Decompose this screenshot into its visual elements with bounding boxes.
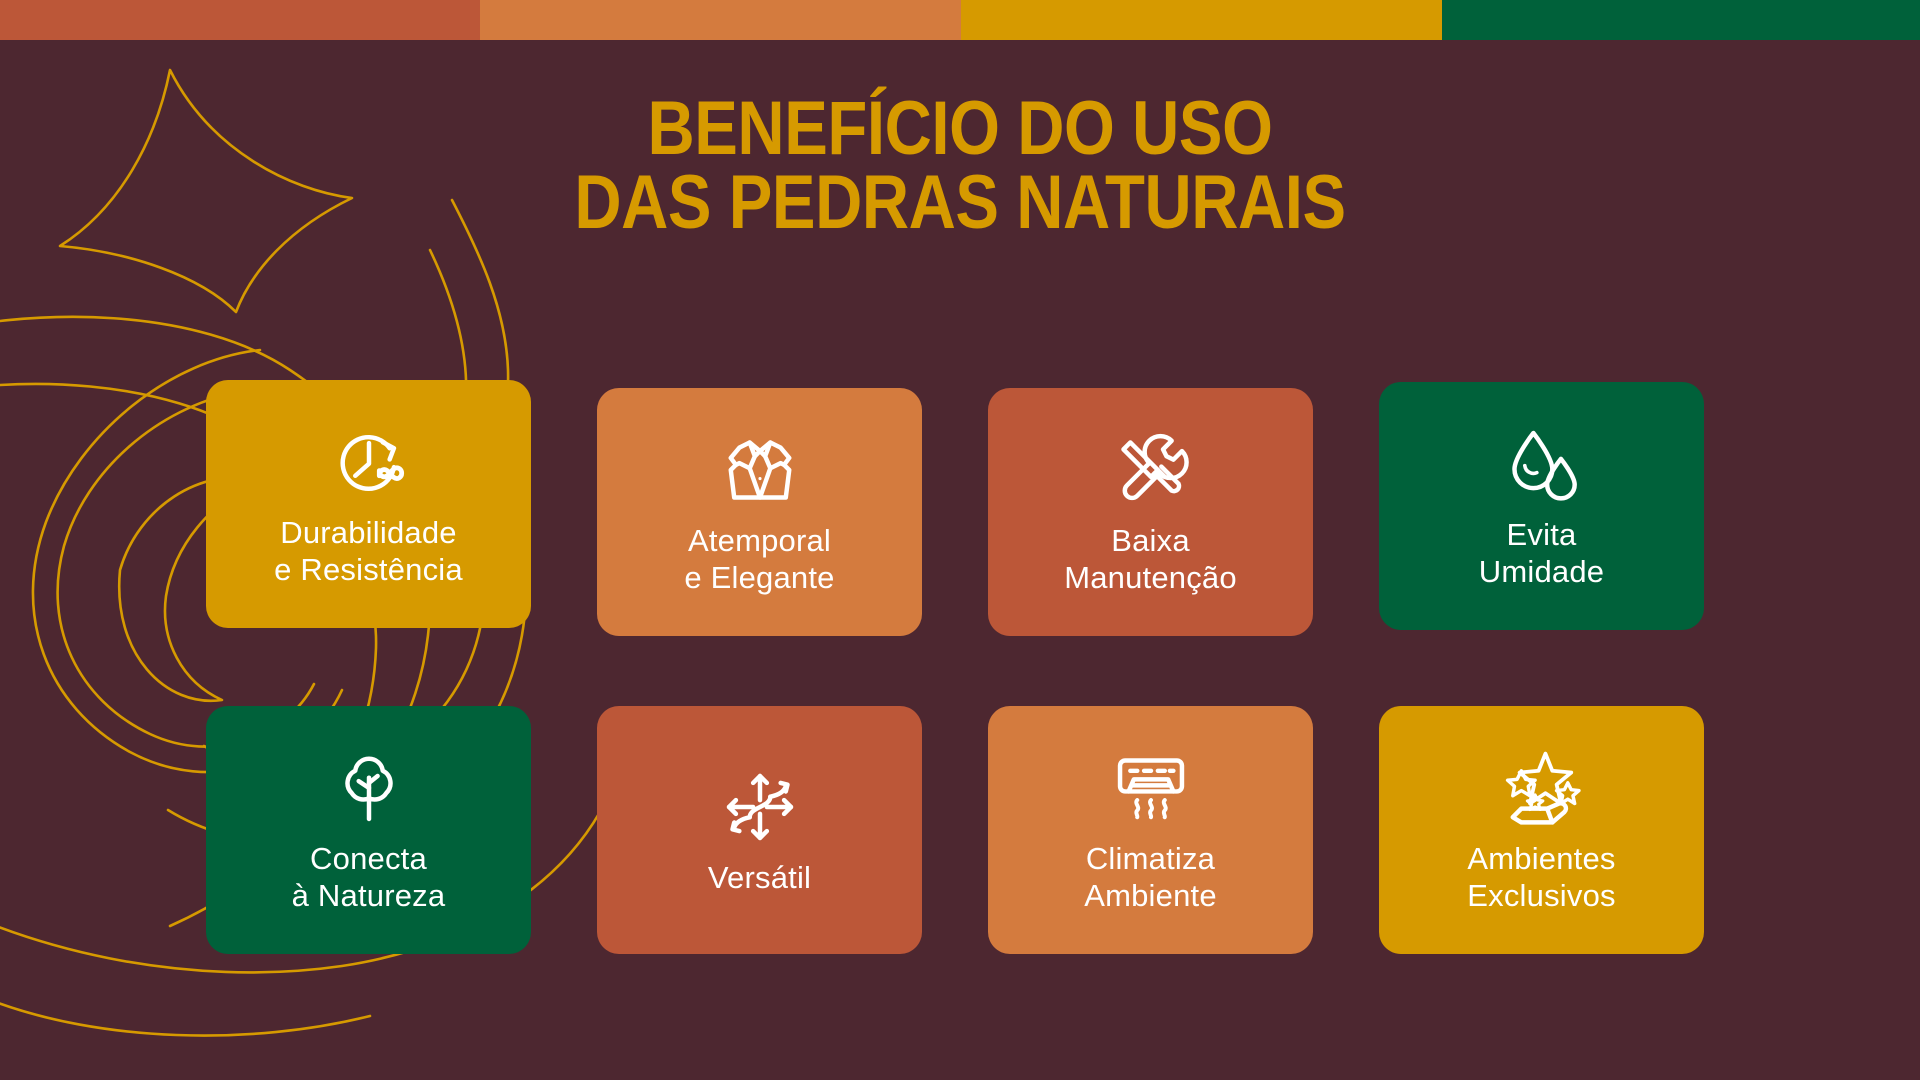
benefit-card-ambientes-exclusivos[interactable]: Ambientes Exclusivos [1379,706,1704,954]
benefit-card-label: Baixa Manutenção [1054,523,1247,596]
page-title: BENEFÍCIO DO USO DAS PEDRAS NATURAIS [0,92,1920,241]
benefits-row-2: Conecta à Natureza [206,706,1726,954]
benefit-card-label: Climatiza Ambiente [1074,841,1227,914]
benefit-card-label: Atemporal e Elegante [674,523,844,596]
topbar-segment-gold [961,0,1442,40]
benefit-card-baixa-manutencao[interactable]: Baixa Manutenção [988,388,1313,636]
suit-tuxedo-icon [717,427,803,513]
clock-infinity-icon [326,419,412,505]
benefit-card-versatil[interactable]: Versátil [597,706,922,954]
water-droplets-icon [1499,421,1585,507]
benefit-card-durabilidade[interactable]: Durabilidade e Resistência [206,380,531,628]
benefit-card-label: Durabilidade e Resistência [264,515,473,588]
benefit-card-label: Versátil [698,860,821,897]
benefit-card-label: Ambientes Exclusivos [1457,841,1625,914]
benefits-row-1: Durabilidade e Resistência Atemporal e E… [206,380,1726,636]
benefits-grid: Durabilidade e Resistência Atemporal e E… [206,380,1726,954]
benefit-card-conecta-natureza[interactable]: Conecta à Natureza [206,706,531,954]
topbar-segment-green [1442,0,1920,40]
benefit-card-evita-umidade[interactable]: Evita Umidade [1379,382,1704,630]
title-line-1: BENEFÍCIO DO USO [134,92,1785,166]
air-conditioner-icon [1108,745,1194,831]
tree-icon [326,745,412,831]
wrench-screwdriver-icon [1108,427,1194,513]
benefit-card-climatiza-ambiente[interactable]: Climatiza Ambiente [988,706,1313,954]
top-color-bar [0,0,1920,40]
title-line-2: DAS PEDRAS NATURAIS [134,166,1785,240]
topbar-segment-terracotta [0,0,480,40]
hand-stars-icon [1499,745,1585,831]
four-way-arrows-icon [717,764,803,850]
benefit-card-label: Conecta à Natureza [282,841,456,914]
topbar-segment-orange [480,0,961,40]
benefit-card-label: Evita Umidade [1469,517,1614,590]
benefit-card-atemporal[interactable]: Atemporal e Elegante [597,388,922,636]
